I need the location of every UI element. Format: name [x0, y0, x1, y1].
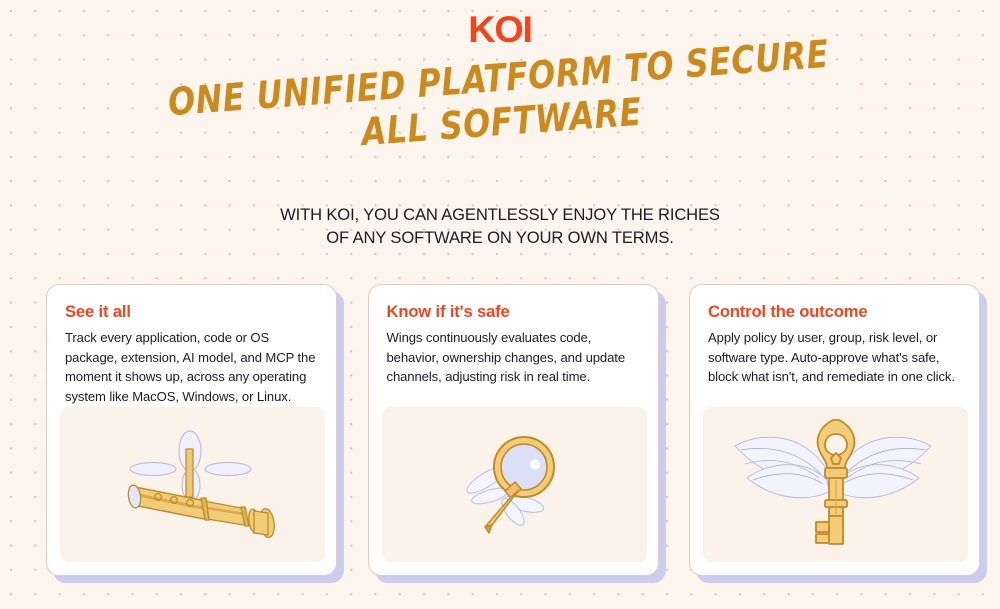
feature-card-list: See it all Track every application, code…	[46, 284, 980, 576]
subheading-line-1: WITH KOI, YOU CAN AGENTLESSLY ENJOY THE …	[0, 204, 1000, 227]
winged-telescope-icon	[78, 415, 308, 555]
feature-card-see-it-all[interactable]: See it all Track every application, code…	[46, 284, 337, 576]
card-description: Apply policy by user, group, risk level,…	[708, 328, 961, 387]
card-illustration-panel	[382, 407, 647, 562]
page-subheading: WITH KOI, YOU CAN AGENTLESSLY ENJOY THE …	[0, 204, 1000, 249]
subheading-line-2: OF ANY SOFTWARE ON YOUR OWN TERMS.	[0, 227, 1000, 250]
card-description: Track every application, code or OS pack…	[65, 328, 318, 406]
card-description: Wings continuously evaluates code, behav…	[387, 328, 640, 387]
page-header: KOI ONE UNIFIED PLATFORM TO SECURE ALL S…	[0, 0, 1000, 272]
card-illustration-panel	[60, 407, 325, 562]
card-title: Know if it's safe	[387, 302, 640, 322]
card-title: Control the outcome	[708, 302, 961, 322]
card-illustration-panel	[703, 407, 968, 562]
winged-key-icon	[721, 412, 951, 557]
winged-magnifying-glass-icon	[414, 412, 614, 557]
feature-card-know-if-its-safe[interactable]: Know if it's safe Wings continuously eva…	[368, 284, 659, 576]
feature-card-control-the-outcome[interactable]: Control the outcome Apply policy by user…	[689, 284, 980, 576]
card-title: See it all	[65, 302, 318, 322]
